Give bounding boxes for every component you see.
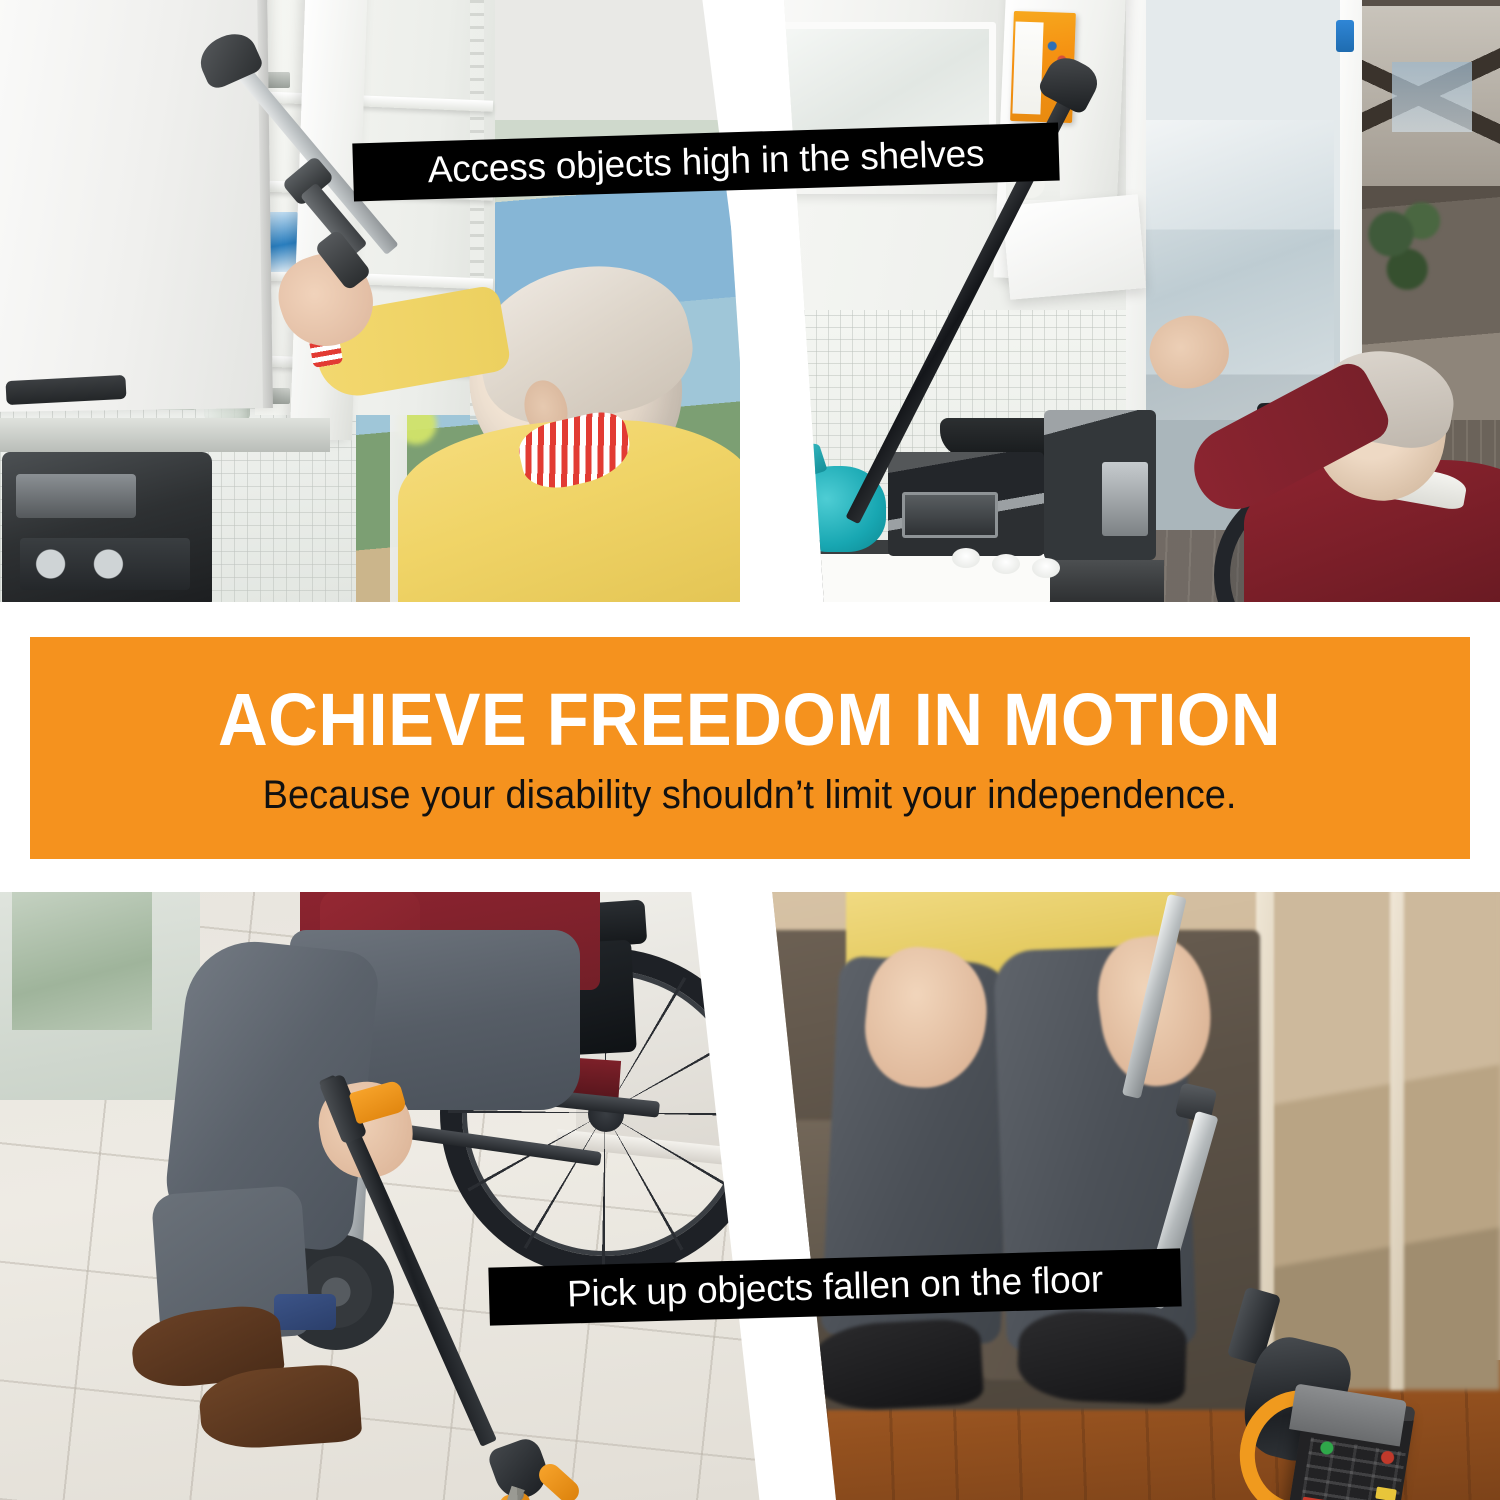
blue-sock bbox=[274, 1294, 336, 1330]
background-door bbox=[1260, 890, 1500, 1390]
black-shoe bbox=[1016, 1309, 1187, 1405]
countertop-appliance bbox=[2, 452, 212, 604]
cabinet-open-door bbox=[1002, 194, 1146, 299]
kitchen-counter bbox=[0, 418, 330, 452]
banner-headline: ACHIEVE FREEDOM IN MOTION bbox=[218, 683, 1281, 757]
promo-banner: ACHIEVE FREEDOM IN MOTION Because your d… bbox=[30, 637, 1470, 859]
white-band-above-banner bbox=[0, 602, 1500, 638]
photo-pickup-floor-left bbox=[0, 890, 760, 1500]
package-label bbox=[1012, 22, 1043, 115]
banner-subheadline: Because your disability shouldn’t limit … bbox=[263, 773, 1237, 817]
sky-patch bbox=[1392, 62, 1472, 132]
pressure-cooker bbox=[1044, 410, 1156, 560]
toaster-oven bbox=[888, 452, 1044, 556]
stove-burner-knob bbox=[952, 548, 980, 568]
white-band-below-banner bbox=[0, 858, 1500, 892]
photo-access-shelves-right bbox=[744, 0, 1500, 604]
glass-door bbox=[12, 890, 152, 1030]
remote-yellow-button bbox=[1375, 1487, 1397, 1500]
stove-burner-knob bbox=[992, 554, 1020, 574]
palm-foliage bbox=[1364, 190, 1454, 300]
door-frame bbox=[1390, 890, 1404, 1390]
photo-pickup-floor-right bbox=[700, 890, 1500, 1500]
photo-access-shelves-left bbox=[0, 0, 740, 604]
stove-burner-knob bbox=[1032, 558, 1060, 578]
blue-clip bbox=[1336, 20, 1354, 52]
